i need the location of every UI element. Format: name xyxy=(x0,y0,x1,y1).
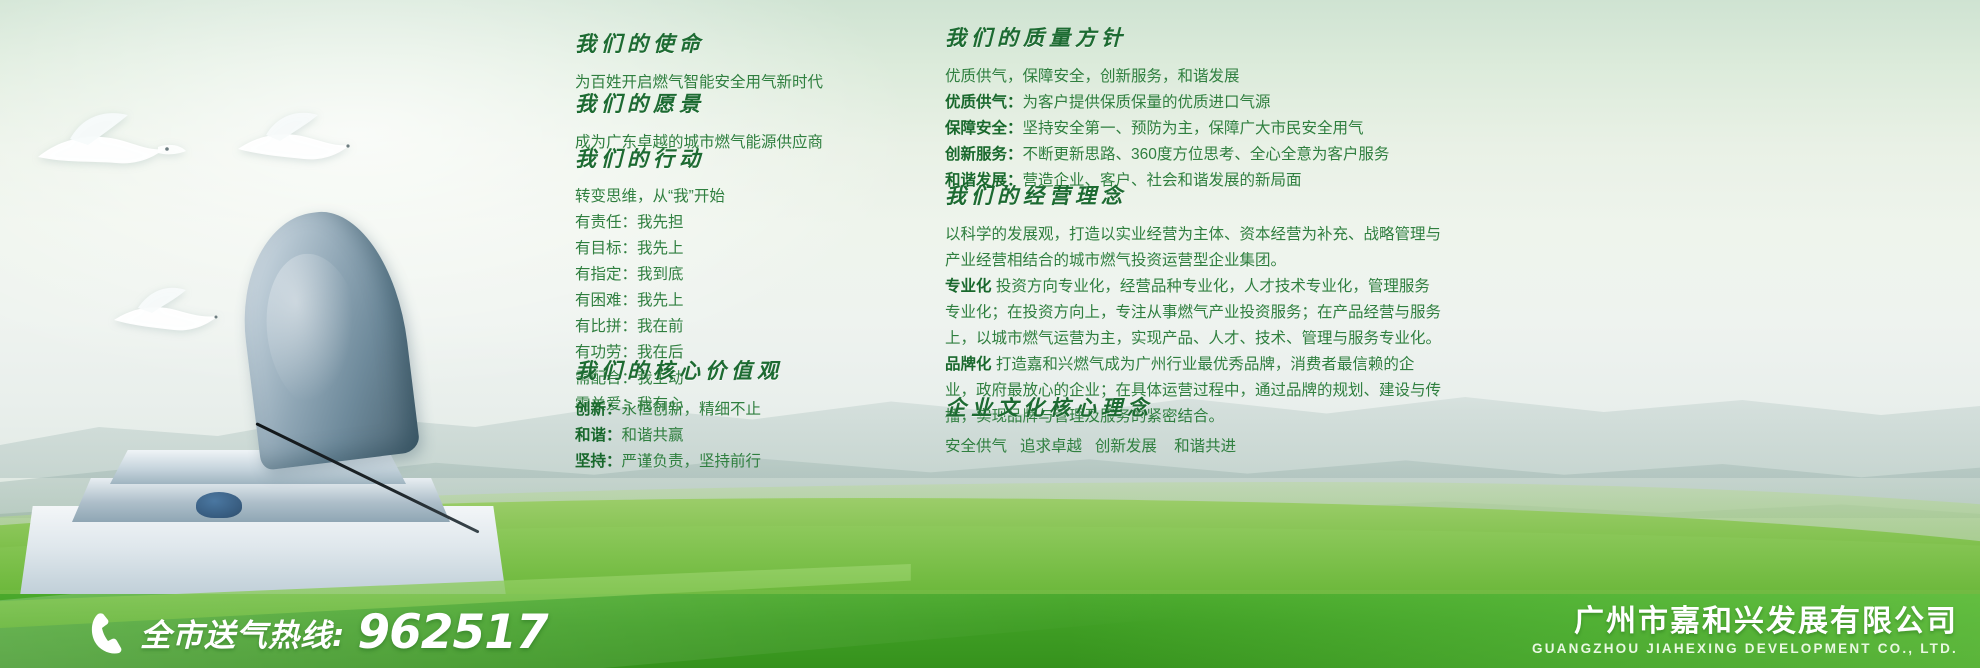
core-value-sep: ： xyxy=(606,401,622,418)
company-identity: 广州市嘉和兴发展有限公司 GUANGZHOU JIAHEXING DEVELOP… xyxy=(1532,605,1958,658)
phone-handset-icon xyxy=(88,611,130,655)
culture-core-value: 追求卓越 xyxy=(1020,438,1082,455)
quality-policy-label: 创新服务 xyxy=(945,146,1007,163)
management-philosophy-label: 专业化 xyxy=(945,278,992,295)
corporate-culture-poster: 我们的使命 为百姓开启燃气智能安全用气新时代 我们的愿景 成为广东卓越的城市燃气… xyxy=(0,0,1980,668)
core-value-item: 和谐：和谐共赢 xyxy=(575,423,783,449)
dove-icon xyxy=(30,105,190,185)
company-name-cn: 广州市嘉和兴发展有限公司 xyxy=(1532,605,1958,639)
quality-policy-sep: ： xyxy=(1007,146,1023,163)
culture-core-heading: 企业文化核心理念 xyxy=(945,392,1465,422)
core-value-text: 严谨负责，坚持前行 xyxy=(622,453,762,470)
culture-core-value: 安全供气 xyxy=(945,438,1007,455)
action-heading: 我们的行动 xyxy=(575,143,725,173)
monument-base-top xyxy=(110,450,406,484)
monument-base-middle xyxy=(72,478,450,522)
monument-accent xyxy=(196,492,242,518)
core-value-label: 和谐 xyxy=(575,427,606,444)
culture-core-value: 和谐共进 xyxy=(1174,438,1236,455)
quality-policy-sep: ： xyxy=(1007,94,1023,111)
action-line: 有指定：我到底 xyxy=(575,262,725,288)
core-value-item: 创新：永恒创新，精细不止 xyxy=(575,397,783,423)
hill-mid xyxy=(0,498,1980,590)
core-value-label: 创新 xyxy=(575,401,606,418)
mountain-layer-near xyxy=(0,455,1980,550)
vision-heading: 我们的愿景 xyxy=(575,88,823,118)
quality-policy-label: 保障安全 xyxy=(945,120,1007,137)
hill-pale xyxy=(0,482,1980,572)
hotline-label: 全市送气热线: xyxy=(140,610,345,655)
action-line: 有困难：我先上 xyxy=(575,288,725,314)
management-philosophy-heading: 我们的经营理念 xyxy=(945,180,1445,210)
core-value-sep: ： xyxy=(606,427,622,444)
management-philosophy-label: 品牌化 xyxy=(945,356,992,373)
quality-policy-sep: ： xyxy=(1007,120,1023,137)
action-line: 有目标：我先上 xyxy=(575,236,725,262)
core-value-text: 永恒创新，精细不止 xyxy=(622,401,762,418)
management-philosophy-text: 投资方向专业化，经营品种专业化，人才技术专业化，管理服务专业化；在投资方向上，专… xyxy=(945,278,1441,347)
quality-policy-text: 坚持安全第一、预防为主，保障广大市民安全用气 xyxy=(1023,120,1364,137)
core-values-block: 我们的核心价值观 创新：永恒创新，精细不止 和谐：和谐共赢 坚持：严谨负责，坚持… xyxy=(575,355,783,475)
core-value-sep: ： xyxy=(606,453,622,470)
stone-sundial-monument xyxy=(0,140,560,610)
dove-icon xyxy=(108,280,228,348)
core-value-text: 和谐共赢 xyxy=(622,427,684,444)
quality-policy-summary: 优质供气，保障安全，创新服务，和谐发展 xyxy=(945,64,1465,90)
action-line: 有比拼：我在前 xyxy=(575,314,725,340)
dove-icon xyxy=(232,105,362,177)
quality-policy-block: 我们的质量方针 优质供气，保障安全，创新服务，和谐发展 优质供气：为客户提供保质… xyxy=(945,22,1465,194)
quality-policy-item: 优质供气：为客户提供保质保量的优质进口气源 xyxy=(945,90,1465,116)
quality-policy-heading: 我们的质量方针 xyxy=(945,22,1465,52)
quality-policy-item: 创新服务：不断更新思路、360度方位思考、全心全意为客户服务 xyxy=(945,142,1465,168)
culture-core-block: 企业文化核心理念 安全供气 追求卓越 创新发展 和谐共进 xyxy=(945,392,1465,460)
hotline-group: 全市送气热线: 962517 xyxy=(88,605,548,660)
company-name-en: GUANGZHOU JIAHEXING DEVELOPMENT CO., LTD… xyxy=(1532,640,1958,658)
core-value-item: 坚持：严谨负责，坚持前行 xyxy=(575,449,783,475)
hotline-number: 962517 xyxy=(357,605,547,660)
sundial-stone-disc xyxy=(231,203,420,471)
management-philosophy-item: 专业化 投资方向专业化，经营品种专业化，人才技术专业化，管理服务专业化；在投资方… xyxy=(945,274,1445,352)
quality-policy-text: 为客户提供保质保量的优质进口气源 xyxy=(1023,94,1271,111)
mission-block: 我们的使命 为百姓开启燃气智能安全用气新时代 xyxy=(575,28,823,96)
action-line: 有责任：我先担 xyxy=(575,210,725,236)
core-values-heading: 我们的核心价值观 xyxy=(575,355,783,385)
quality-policy-text: 不断更新思路、360度方位思考、全心全意为客户服务 xyxy=(1023,146,1390,163)
management-philosophy-intro: 以科学的发展观，打造以实业经营为主体、资本经营为补充、战略管理与产业经营相结合的… xyxy=(945,222,1445,274)
quality-policy-item: 保障安全：坚持安全第一、预防为主，保障广大市民安全用气 xyxy=(945,116,1465,142)
core-value-label: 坚持 xyxy=(575,453,606,470)
sundial-gnomon-rod xyxy=(255,422,479,533)
culture-core-value: 创新发展 xyxy=(1095,438,1157,455)
mission-heading: 我们的使命 xyxy=(575,28,823,58)
action-line: 转变思维，从“我”开始 xyxy=(575,184,725,210)
quality-policy-label: 优质供气 xyxy=(945,94,1007,111)
